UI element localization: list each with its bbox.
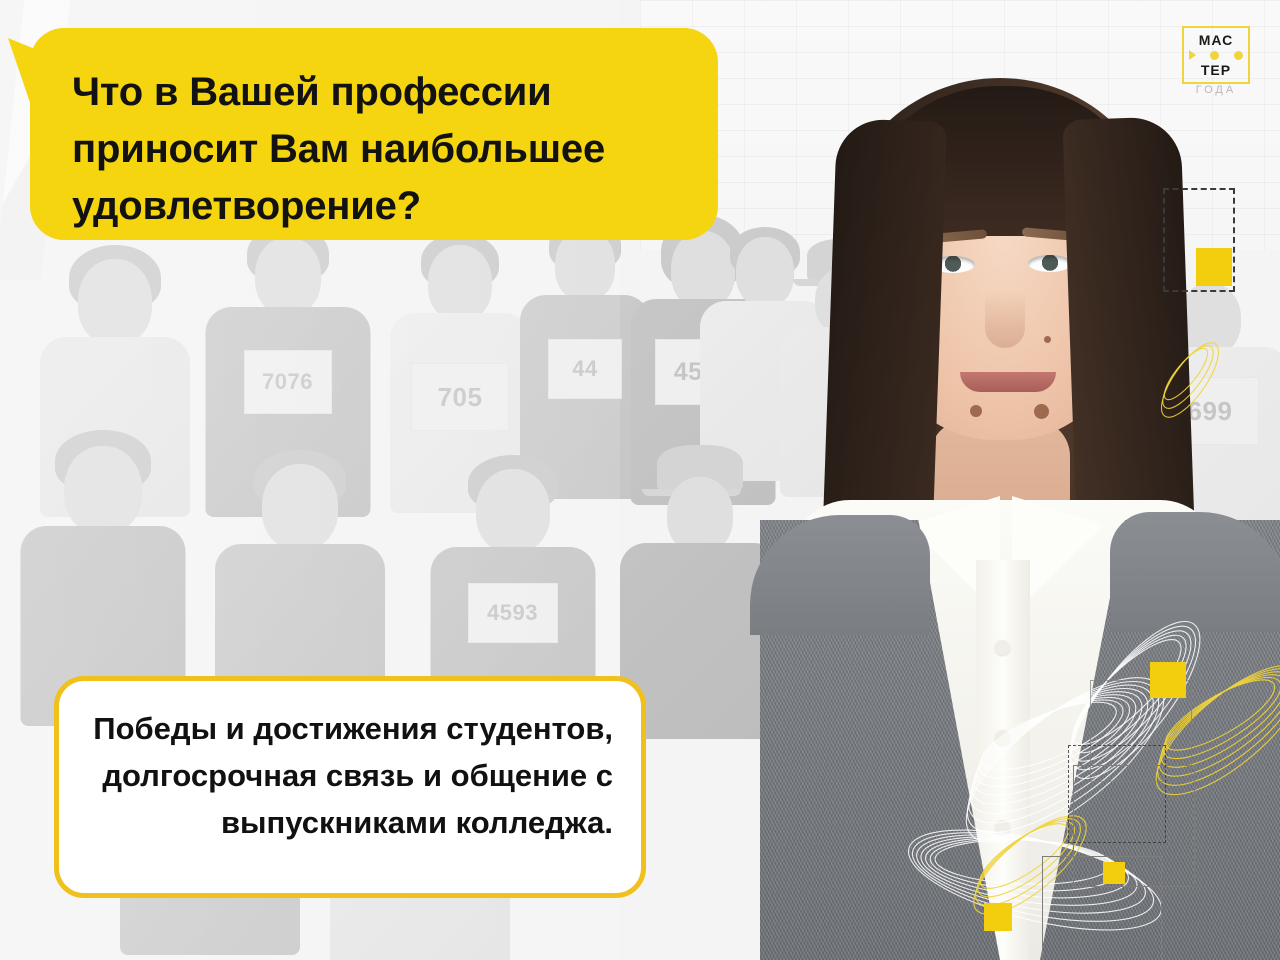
logo-line-2: ТЕР — [1182, 62, 1250, 78]
slide-canvas: 7076 705 44 4560 — [0, 0, 1280, 960]
shirt-button — [995, 640, 1010, 655]
question-speech-bubble: Что в Вашей профессии приносит Вам наибо… — [30, 28, 718, 240]
question-text: Что в Вашей профессии приносит Вам наибо… — [72, 64, 682, 235]
shoulder-right — [1110, 512, 1280, 632]
shirt-button — [995, 730, 1010, 745]
nose — [985, 290, 1025, 348]
shirt-button — [995, 908, 1010, 923]
mouth — [960, 372, 1056, 392]
portrait-photo — [640, 0, 1280, 960]
mole — [1034, 404, 1049, 419]
shirt-button — [995, 820, 1010, 835]
eye-right — [1028, 255, 1072, 272]
logo-ornament-row — [1182, 48, 1250, 62]
triangle-icon — [1189, 50, 1196, 60]
dot-icon — [1234, 51, 1243, 60]
answer-text: Победы и достижения студентов, долгосроч… — [83, 705, 613, 846]
logo-subtitle: ГОДА — [1182, 84, 1250, 96]
answer-card: Победы и достижения студентов, долгосроч… — [54, 676, 646, 898]
mole — [970, 405, 982, 417]
logo-line-1: МАС — [1182, 32, 1250, 48]
master-goda-logo: МАС ТЕР ГОДА — [1182, 26, 1254, 104]
mole — [1044, 336, 1051, 343]
dot-icon — [1210, 51, 1219, 60]
